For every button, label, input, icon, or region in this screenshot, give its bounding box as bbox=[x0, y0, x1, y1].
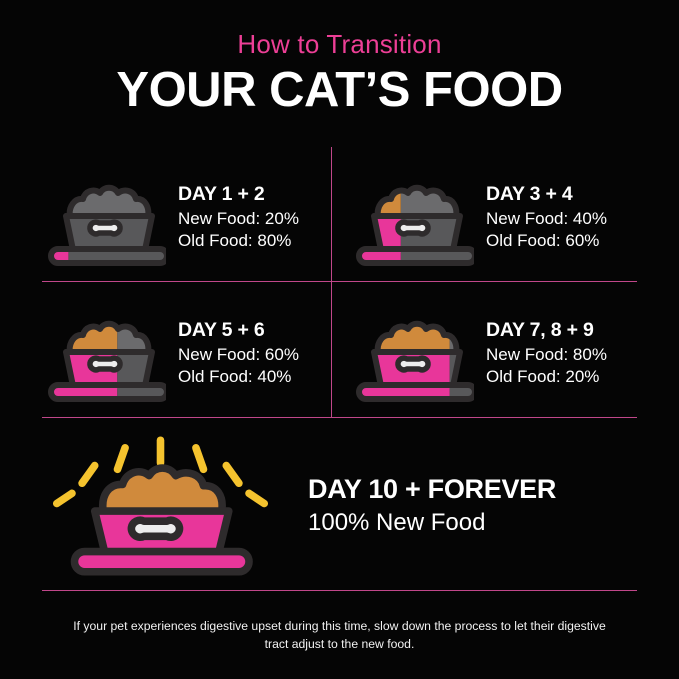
cat-food-bowl-icon bbox=[44, 306, 166, 403]
step-old-food: Old Food: 20% bbox=[486, 366, 648, 388]
cat-food-bowl-icon bbox=[352, 170, 474, 267]
step-text-day-3-4: DAY 3 + 4 New Food: 40% Old Food: 60% bbox=[478, 183, 648, 252]
footnote-text: If your pet experiences digestive upset … bbox=[60, 618, 619, 653]
divider-horizontal-lower bbox=[42, 417, 637, 418]
step-old-food: Old Food: 80% bbox=[178, 230, 340, 252]
cat-food-bowl-icon bbox=[44, 170, 166, 267]
step-title: DAY 5 + 6 bbox=[178, 319, 340, 341]
bowl-foot bbox=[51, 249, 166, 263]
food-mound bbox=[102, 468, 221, 514]
step-title: DAY 7, 8 + 9 bbox=[486, 319, 648, 341]
step-text-day-7-8-9: DAY 7, 8 + 9 New Food: 80% Old Food: 20% bbox=[478, 319, 648, 388]
cat-food-bowl-sunburst-icon bbox=[53, 435, 268, 577]
step-card-day-3-4: DAY 3 + 4 New Food: 40% Old Food: 60% bbox=[348, 155, 648, 281]
kicker-text: How to Transition bbox=[0, 30, 679, 59]
step-new-food: New Food: 20% bbox=[178, 208, 340, 230]
cat-food-bowl-icon bbox=[352, 306, 474, 403]
step-new-food: New Food: 60% bbox=[178, 344, 340, 366]
step-card-day-5-6: DAY 5 + 6 New Food: 60% Old Food: 40% bbox=[40, 291, 340, 417]
header: How to Transition YOUR CAT’S FOOD bbox=[0, 30, 679, 116]
bone-icon bbox=[90, 222, 120, 234]
bone-icon bbox=[131, 520, 179, 537]
bowl-illustration-day-10-forever bbox=[0, 435, 300, 577]
bone-icon bbox=[398, 358, 428, 370]
step-card-day-7-8-9: DAY 7, 8 + 9 New Food: 80% Old Food: 20% bbox=[348, 291, 648, 417]
step-text-day-1-2: DAY 1 + 2 New Food: 20% Old Food: 80% bbox=[170, 183, 340, 252]
step-title: DAY 1 + 2 bbox=[178, 183, 340, 205]
step-old-food: Old Food: 40% bbox=[178, 366, 340, 388]
step-title: DAY 3 + 4 bbox=[486, 183, 648, 205]
transition-steps-grid: DAY 1 + 2 New Food: 20% Old Food: 80% bbox=[0, 155, 679, 417]
bowl-foot bbox=[51, 385, 166, 399]
step-card-day-1-2: DAY 1 + 2 New Food: 20% Old Food: 80% bbox=[40, 155, 340, 281]
bone-icon bbox=[398, 222, 428, 234]
bowl-foot bbox=[359, 385, 474, 399]
bone-icon bbox=[90, 358, 120, 370]
finale-title: DAY 10 + FOREVER bbox=[308, 474, 679, 505]
step-new-food: New Food: 80% bbox=[486, 344, 648, 366]
bowl-foot bbox=[74, 552, 249, 572]
divider-horizontal-footnote bbox=[42, 590, 637, 591]
bowl-illustration-day-7-8-9 bbox=[348, 306, 478, 403]
bowl-illustration-day-1-2 bbox=[40, 170, 170, 267]
page-title: YOUR CAT’S FOOD bbox=[0, 65, 679, 116]
finale-subtitle: 100% New Food bbox=[308, 509, 679, 538]
step-text-day-5-6: DAY 5 + 6 New Food: 60% Old Food: 40% bbox=[170, 319, 340, 388]
step-new-food: New Food: 40% bbox=[486, 208, 648, 230]
finale-row: DAY 10 + FOREVER 100% New Food bbox=[0, 426, 679, 586]
bowl-illustration-day-5-6 bbox=[40, 306, 170, 403]
finale-text: DAY 10 + FOREVER 100% New Food bbox=[300, 474, 679, 538]
infographic-canvas: How to Transition YOUR CAT’S FOOD bbox=[0, 0, 679, 679]
bowl-illustration-day-3-4 bbox=[348, 170, 478, 267]
step-old-food: Old Food: 60% bbox=[486, 230, 648, 252]
bowl-foot bbox=[359, 249, 474, 263]
